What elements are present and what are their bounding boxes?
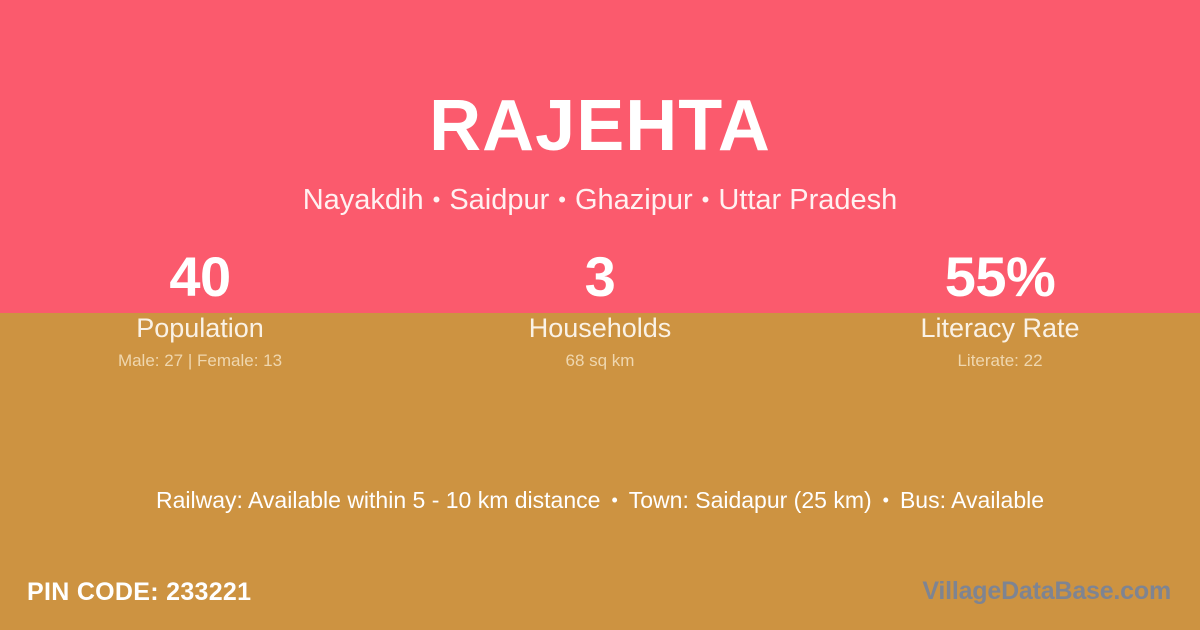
stat-population-sub: Male: 27 | Female: 13: [0, 350, 400, 372]
infra-separator-icon: •: [600, 484, 628, 516]
pin-code: PIN CODE: 233221: [27, 577, 251, 607]
stat-households-value: 3: [400, 245, 800, 309]
stat-population-value: 40: [0, 245, 400, 309]
stat-households-label: Households: [400, 311, 800, 345]
breadcrumb-separator-icon: •: [549, 182, 575, 218]
stat-population-label: Population: [0, 311, 400, 345]
breadcrumb-item-state: Uttar Pradesh: [718, 184, 897, 216]
breadcrumb-item-block: Saidpur: [449, 184, 549, 216]
infra-separator-icon: •: [872, 484, 900, 516]
breadcrumb-item-panchayat: Nayakdih: [303, 184, 424, 216]
stat-literacy-rate-sub: Literate: 22: [800, 350, 1200, 372]
page-title: RAJEHTA: [0, 85, 1200, 167]
stats-row: 40 Population Male: 27 | Female: 13 3 Ho…: [0, 245, 1200, 372]
stat-literacy-rate: 55% Literacy Rate Literate: 22: [800, 245, 1200, 372]
infra-item-bus: Bus: Available: [900, 487, 1044, 513]
breadcrumb: Nayakdih•Saidpur•Ghazipur•Uttar Pradesh: [0, 182, 1200, 218]
village-info-card: RAJEHTA Nayakdih•Saidpur•Ghazipur•Uttar …: [0, 0, 1200, 630]
infrastructure-line: Railway: Available within 5 - 10 km dist…: [0, 484, 1200, 516]
stat-population: 40 Population Male: 27 | Female: 13: [0, 245, 400, 372]
stat-literacy-rate-value: 55%: [800, 245, 1200, 309]
infra-item-railway: Railway: Available within 5 - 10 km dist…: [156, 487, 600, 513]
breadcrumb-separator-icon: •: [693, 182, 719, 218]
infra-item-town: Town: Saidapur (25 km): [629, 487, 872, 513]
stat-literacy-rate-label: Literacy Rate: [800, 311, 1200, 345]
breadcrumb-separator-icon: •: [424, 182, 450, 218]
site-brand: VillageDataBase.com: [922, 576, 1171, 606]
breadcrumb-item-district: Ghazipur: [575, 184, 693, 216]
stat-households-sub: 68 sq km: [400, 350, 800, 372]
stat-households: 3 Households 68 sq km: [400, 245, 800, 372]
